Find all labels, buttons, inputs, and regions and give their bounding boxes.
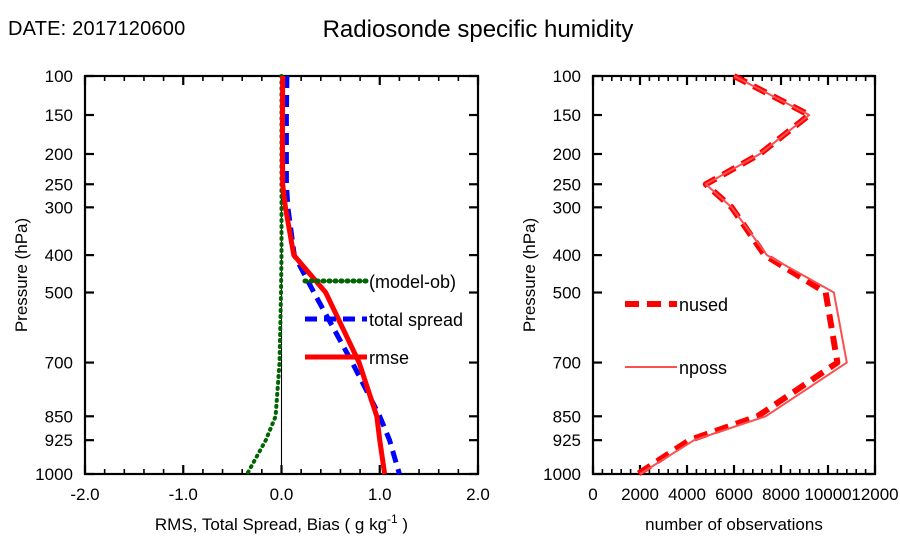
y-tick-label: 850 — [553, 407, 581, 426]
y-tick-label: 925 — [45, 431, 73, 450]
plot-frame — [593, 76, 875, 474]
y-axis-label: Pressure (hPa) — [520, 218, 539, 332]
x-tick-label: -1.0 — [169, 485, 198, 504]
x-tick-label: 1.0 — [368, 485, 392, 504]
x-tick-label: 8000 — [762, 485, 800, 504]
x-tick-label: 10000 — [804, 485, 851, 504]
x-tick-label: 2000 — [621, 485, 659, 504]
y-tick-label: 100 — [45, 67, 73, 86]
y-tick-label: 700 — [45, 354, 73, 373]
x-tick-label: 2.0 — [466, 485, 490, 504]
legend-label-rmse: rmse — [369, 348, 409, 368]
x-tick-label: 12000 — [851, 485, 898, 504]
legend: (model-ob)total spreadrmse — [305, 272, 463, 368]
y-tick-label: 150 — [45, 106, 73, 125]
y-tick-label: 400 — [45, 246, 73, 265]
legend-label-nused: nused — [679, 295, 728, 315]
y-tick-label: 1000 — [543, 465, 581, 484]
y-tick-label: 300 — [45, 198, 73, 217]
y-tick-label: 250 — [45, 175, 73, 194]
y-axis-label: Pressure (hPa) — [12, 218, 31, 332]
y-tick-label: 850 — [45, 407, 73, 426]
y-tick-label: 400 — [553, 246, 581, 265]
series-model_ob — [247, 76, 281, 474]
y-tick-label: 300 — [553, 198, 581, 217]
plots-svg: -2.0-1.00.01.02.010015020025030040050070… — [0, 0, 900, 560]
y-tick-label: 500 — [553, 284, 581, 303]
y-tick-label: 200 — [553, 145, 581, 164]
x-axis-label: RMS, Total Spread, Bias ( g kg-1 ) — [155, 512, 408, 534]
x-tick-label: -2.0 — [70, 485, 99, 504]
y-tick-label: 250 — [553, 175, 581, 194]
legend: nusednposs — [625, 295, 728, 378]
legend-label-totalspread: total spread — [369, 310, 463, 330]
series-nused — [638, 76, 838, 474]
y-tick-label: 700 — [553, 354, 581, 373]
legend-label-modelob: (model-ob) — [369, 272, 456, 292]
y-tick-label: 1000 — [35, 465, 73, 484]
y-tick-label: 925 — [553, 431, 581, 450]
legend-label-nposs: nposs — [679, 358, 727, 378]
y-tick-label: 200 — [45, 145, 73, 164]
x-tick-label: 4000 — [668, 485, 706, 504]
left-panel: -2.0-1.00.01.02.010015020025030040050070… — [12, 67, 490, 534]
right-panel: 0200040006000800010000120001001502002503… — [520, 67, 899, 534]
x-tick-label: 6000 — [715, 485, 753, 504]
series-nposs — [640, 76, 847, 474]
y-tick-label: 150 — [553, 106, 581, 125]
x-tick-label: 0.0 — [270, 485, 294, 504]
y-tick-label: 100 — [553, 67, 581, 86]
x-axis-label: number of observations — [645, 515, 823, 534]
y-tick-label: 500 — [45, 284, 73, 303]
chart-canvas: DATE: 2017120600 Radiosonde specific hum… — [0, 0, 900, 560]
x-tick-label: 0 — [588, 485, 597, 504]
